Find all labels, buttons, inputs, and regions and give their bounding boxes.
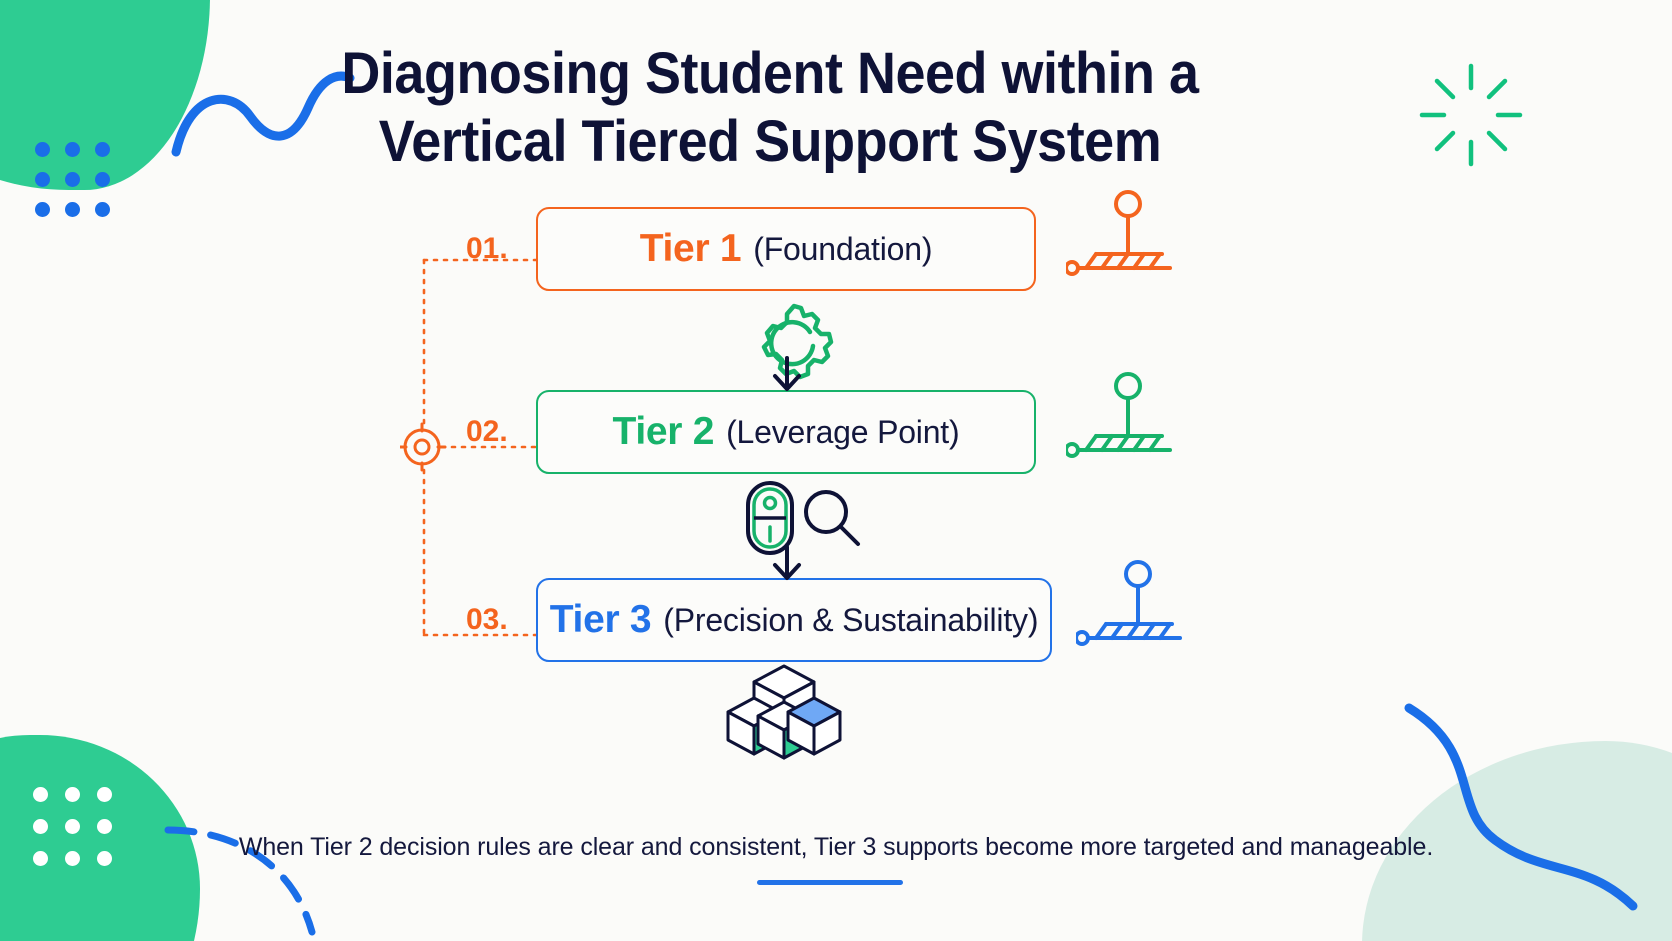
page-title: Diagnosing Student Need within a Vertica… [54,40,1486,176]
down-arrow-icon-2 [765,545,809,585]
tier-2-number: 02. [466,415,536,449]
tier-2-box[interactable]: Tier 2 (Leverage Point) [536,390,1036,474]
target-crosshair-icon [400,424,445,470]
down-arrow-icon-1 [765,356,809,396]
tier-row-1[interactable]: 01. Tier 1 (Foundation) [466,207,1036,291]
tier-2-descriptor: (Leverage Point) [726,414,959,451]
tier-3-number: 03. [466,603,536,637]
magnifier-icon [806,492,858,544]
page-title-line-2: Vertical Tiered Support System [54,108,1486,176]
isometric-cubes-icon [714,662,854,762]
infographic-canvas: Diagnosing Student Need within a Vertica… [0,0,1672,941]
tier-1-number: 01. [466,232,536,266]
sprout-green-icon [1066,372,1176,462]
page-title-line-1: Diagnosing Student Need within a [54,40,1486,108]
blue-wave-bottom-right-icon [1395,700,1655,941]
tier-row-3[interactable]: 03. Tier 3 (Precision & Sustainability) [466,578,1052,662]
tier-1-descriptor: (Foundation) [753,231,932,268]
sprout-orange-icon [1066,190,1176,280]
tier-3-name: Tier 3 [550,598,652,642]
tier-row-2[interactable]: 02. Tier 2 (Leverage Point) [466,390,1036,474]
blue-underline-rule [757,880,903,885]
sprout-blue-icon [1076,560,1186,650]
tier-3-descriptor: (Precision & Sustainability) [663,602,1038,639]
power-switch-icon [748,483,792,553]
tier-1-box[interactable]: Tier 1 (Foundation) [536,207,1036,291]
tier-3-box[interactable]: Tier 3 (Precision & Sustainability) [536,578,1052,662]
tier-1-name: Tier 1 [640,227,742,271]
caption-text: When Tier 2 decision rules are clear and… [0,833,1672,862]
tier-2-name: Tier 2 [613,410,715,454]
